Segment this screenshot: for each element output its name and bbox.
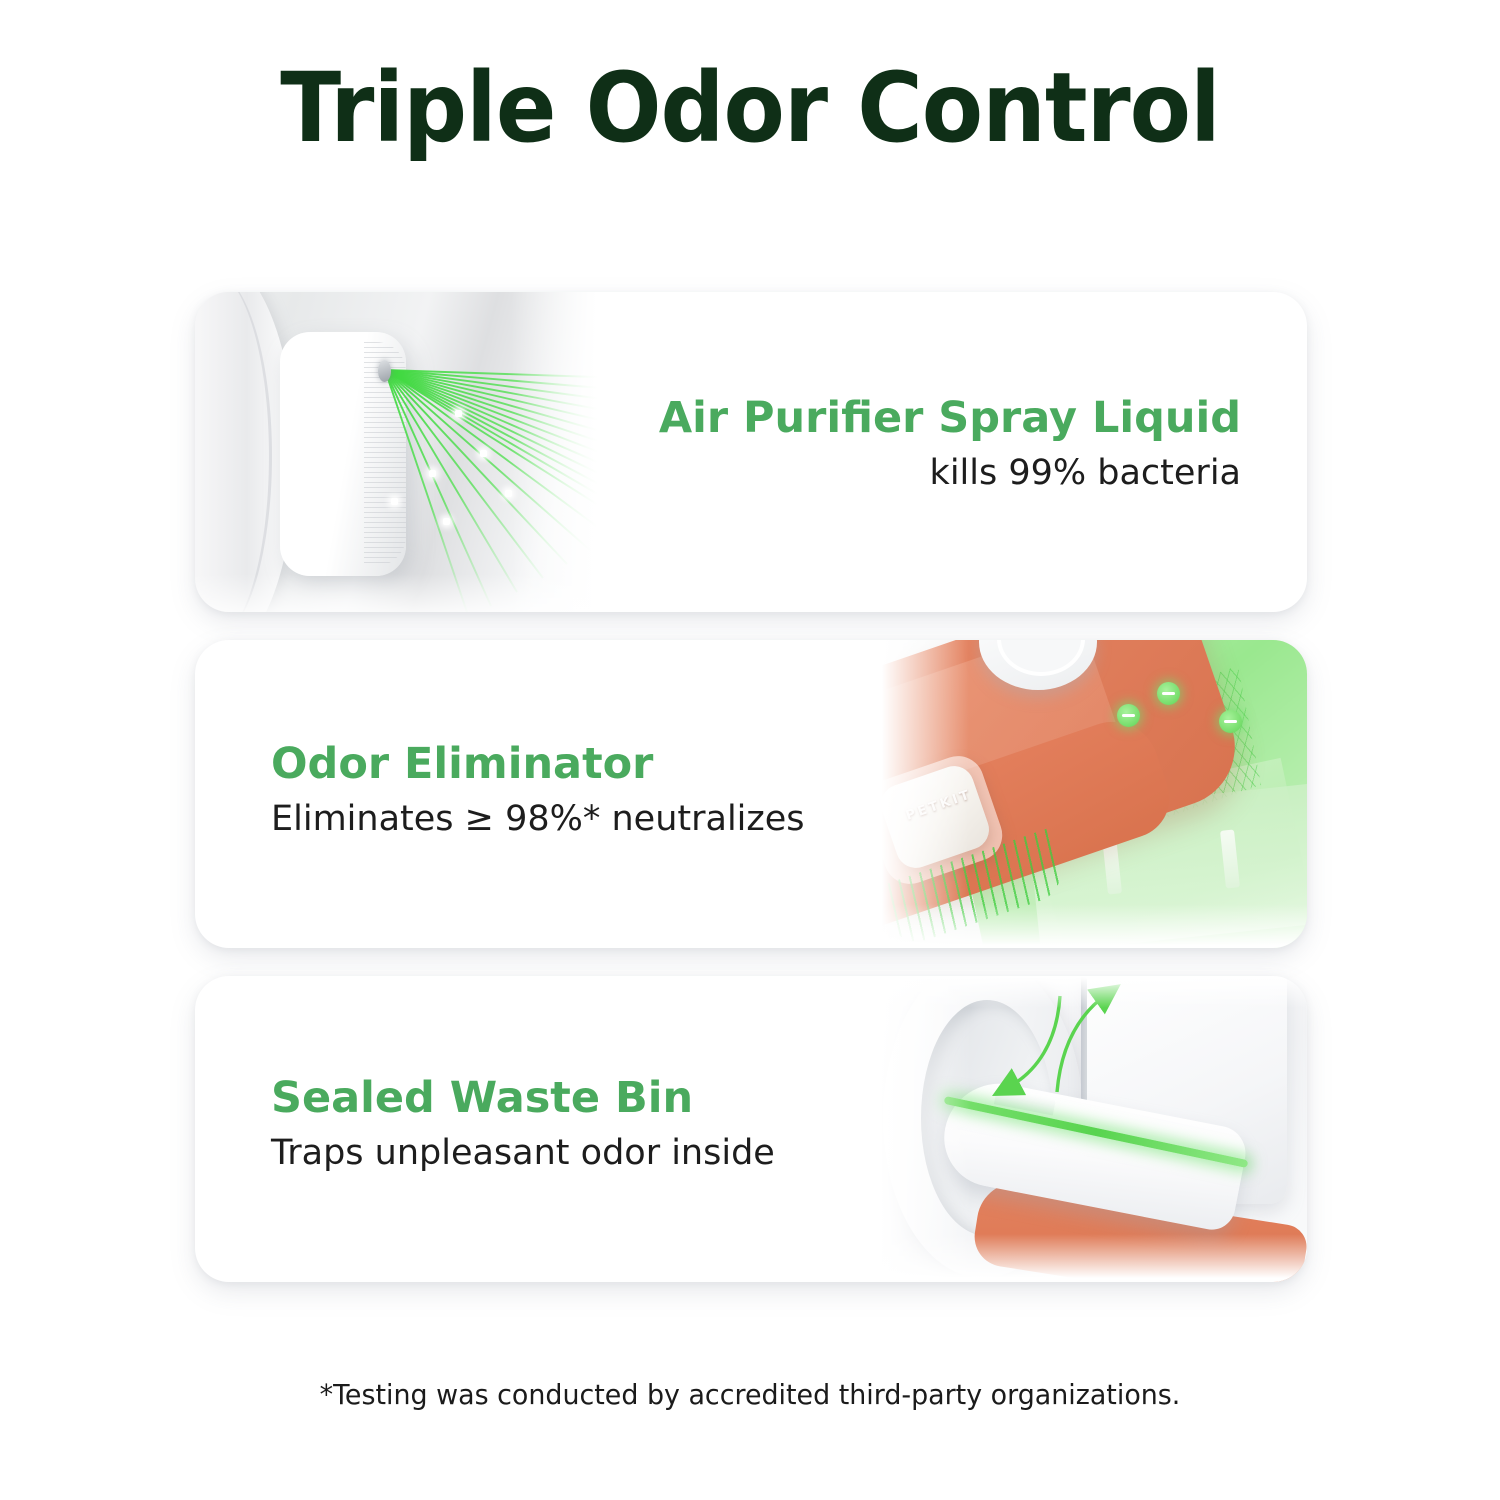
feature-card-list: Air Purifier Spray Liquid kills 99% bact… xyxy=(195,292,1307,1282)
card-subline: Traps unpleasant odor inside xyxy=(271,1132,775,1176)
image-edge-fade xyxy=(855,1234,1307,1282)
card-text-sealed-waste-bin: Sealed Waste Bin Traps unpleasant odor i… xyxy=(271,1074,775,1176)
card-subline: kills 99% bacteria xyxy=(659,452,1241,496)
mist-particle xyxy=(455,410,462,417)
spray-nozzle-icon xyxy=(378,360,391,382)
image-edge-fade xyxy=(855,904,1307,948)
card-headline: Odor Eliminator xyxy=(271,740,805,788)
card-subline: Eliminates ≥ 98%* neutralizes xyxy=(271,798,805,842)
sealed-waste-bin-illustration xyxy=(855,976,1307,1282)
footnote-disclaimer: *Testing was conducted by accredited thi… xyxy=(30,1378,1470,1411)
mist-particle xyxy=(443,518,450,525)
card-headline: Sealed Waste Bin xyxy=(271,1074,775,1122)
image-edge-fade xyxy=(855,640,969,948)
mist-particle xyxy=(480,450,487,457)
air-purifier-spray-illustration xyxy=(195,292,625,612)
mist-particle xyxy=(391,498,398,505)
odor-eliminator-illustration: PETKIT xyxy=(855,640,1307,948)
page-title: Triple Odor Control xyxy=(53,60,1448,156)
feature-card-air-purifier[interactable]: Air Purifier Spray Liquid kills 99% bact… xyxy=(195,292,1307,612)
image-edge-fade xyxy=(195,574,625,612)
feature-card-odor-eliminator[interactable]: PETKIT Odor Eliminator Eliminates ≥ 98%*… xyxy=(195,640,1307,948)
mist-particle xyxy=(429,470,436,477)
image-edge-fade xyxy=(511,292,625,612)
deodorizer-pellet-icon xyxy=(1157,682,1180,705)
card-text-air-purifier: Air Purifier Spray Liquid kills 99% bact… xyxy=(659,394,1241,496)
card-text-odor-eliminator: Odor Eliminator Eliminates ≥ 98%* neutra… xyxy=(271,740,805,842)
card-headline: Air Purifier Spray Liquid xyxy=(659,394,1241,442)
feature-card-sealed-waste-bin[interactable]: Sealed Waste Bin Traps unpleasant odor i… xyxy=(195,976,1307,1282)
deodorizer-pellet-icon xyxy=(1219,710,1242,733)
deodorizer-pellet-icon xyxy=(1117,704,1140,727)
